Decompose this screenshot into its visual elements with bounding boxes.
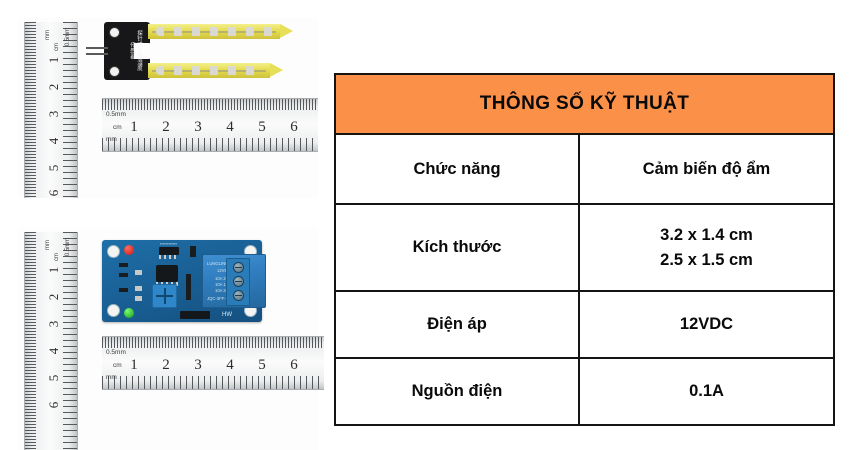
capacitor-component bbox=[135, 270, 142, 275]
resistor-component bbox=[119, 263, 128, 267]
ruler-number: 2 bbox=[158, 357, 174, 374]
pcb-mount-hole bbox=[107, 304, 120, 317]
pcb-board-mark: HW bbox=[222, 312, 232, 318]
capacitor-component bbox=[135, 286, 142, 291]
probe-mount-hole bbox=[109, 66, 120, 77]
trim-potentiometer bbox=[152, 284, 177, 308]
ruler-number: 6 bbox=[286, 119, 302, 136]
dimension-line-2: 2.5 x 1.5 cm bbox=[581, 248, 832, 273]
ruler-unit-cm: cm bbox=[113, 362, 122, 369]
ic-chip-small bbox=[159, 247, 179, 255]
ruler-unit-half-mm: 0.5mm bbox=[65, 234, 71, 260]
spec-value-function: Cảm biến độ ẩm bbox=[579, 134, 834, 204]
prong-contact-pads bbox=[156, 27, 274, 36]
ruler-number: 2 bbox=[46, 288, 62, 306]
ruler-tick-column-fine bbox=[25, 22, 36, 198]
probe-mount-hole bbox=[109, 27, 120, 38]
table-header-row: THÔNG SỐ KỸ THUẬT bbox=[335, 74, 834, 134]
ruler-unit-cm: cm bbox=[113, 124, 122, 131]
pin-header bbox=[180, 311, 210, 319]
spec-label-voltage: Điện áp bbox=[335, 291, 579, 358]
ruler-tick-row-mid bbox=[102, 376, 324, 389]
ruler-number: 3 bbox=[190, 357, 206, 374]
power-led-red bbox=[124, 245, 134, 255]
transistor-component bbox=[186, 274, 191, 300]
table-row: Kích thước 3.2 x 1.4 cm 2.5 x 1.5 cm bbox=[335, 204, 834, 291]
ruler-number: 3 bbox=[190, 119, 206, 136]
status-led-green bbox=[124, 308, 134, 318]
spec-label-current: Nguồn điện bbox=[335, 358, 579, 425]
ruler-number: 6 bbox=[46, 396, 62, 414]
ruler-number: 5 bbox=[46, 369, 62, 387]
table-title-cell: THÔNG SỐ KỸ THUẬT bbox=[335, 74, 834, 134]
ruler-number: 4 bbox=[222, 119, 238, 136]
ruler-tick-row-fine bbox=[102, 337, 324, 348]
probe-prong-lower bbox=[148, 63, 270, 78]
resistor-component bbox=[119, 273, 128, 277]
dimension-line-1: 3.2 x 1.4 cm bbox=[581, 223, 832, 248]
table-row: Chức năng Cảm biến độ ẩm bbox=[335, 134, 834, 204]
terminal-screw bbox=[233, 276, 244, 287]
spec-value-current: 0.1A bbox=[579, 358, 834, 425]
ruler-unit-half-mm: 0.5mm bbox=[106, 349, 126, 356]
ruler-number: 4 bbox=[222, 357, 238, 374]
spec-value-voltage: 12VDC bbox=[579, 291, 834, 358]
probe-lead-wire bbox=[86, 53, 108, 55]
screenshot-canvas: mm 0.5mm cm 1 2 3 4 5 6 探针式土壤湿度传感器 bbox=[0, 0, 850, 450]
ruler-tick-row-fine bbox=[102, 99, 318, 110]
probe-prong-upper bbox=[148, 24, 280, 39]
diode-component bbox=[190, 246, 196, 257]
ruler-number: 2 bbox=[46, 78, 62, 96]
vertical-ruler-top: mm 0.5mm cm 1 2 3 4 5 6 bbox=[24, 22, 78, 198]
ruler-unit-mm: mm bbox=[45, 232, 51, 258]
probe-silkscreen-text: 探针式土壤湿度传感器 bbox=[128, 28, 142, 74]
prong-contact-pads bbox=[156, 66, 264, 75]
ruler-number: 4 bbox=[46, 342, 62, 360]
screw-terminal-block bbox=[226, 258, 250, 306]
ic-chip-opto bbox=[156, 265, 178, 282]
pcb-silkscreen-header: ▪▪▪▪▪▪▪▪▪▪▪▪ bbox=[160, 241, 177, 246]
ruler-number: 1 bbox=[46, 261, 62, 279]
ruler-number: 3 bbox=[46, 105, 62, 123]
ruler-tick-column-mid bbox=[63, 232, 77, 450]
ruler-unit-mm: mm bbox=[45, 22, 51, 48]
soil-moisture-probe: 探针式土壤湿度传感器 bbox=[104, 22, 304, 84]
ruler-tick-column-fine bbox=[25, 232, 36, 450]
capacitor-component bbox=[135, 296, 142, 301]
ruler-unit-mm: mm bbox=[106, 136, 117, 143]
pcb-mount-hole bbox=[107, 245, 120, 258]
ruler-number: 6 bbox=[286, 357, 302, 374]
ruler-number: 1 bbox=[126, 357, 142, 374]
specifications-table: THÔNG SỐ KỸ THUẬT Chức năng Cảm biến độ … bbox=[334, 73, 835, 426]
ic-pin-row bbox=[159, 255, 179, 259]
terminal-screw bbox=[233, 290, 244, 301]
ruler-number: 5 bbox=[46, 159, 62, 177]
ruler-number: 5 bbox=[254, 119, 270, 136]
spec-label-dimensions: Kích thước bbox=[335, 204, 579, 291]
ruler-tick-row-mid bbox=[102, 138, 318, 151]
probe-connector bbox=[120, 44, 126, 57]
vertical-ruler-bottom: mm 0.5mm cm 1 2 3 4 5 6 bbox=[24, 232, 78, 450]
horizontal-ruler-bottom: 0.5mm cm mm 1 2 3 4 5 6 bbox=[102, 336, 324, 390]
ruler-number: 1 bbox=[46, 51, 62, 69]
relay-module-photo: mm 0.5mm cm 1 2 3 4 5 6 bbox=[18, 228, 318, 450]
table-row: Nguồn điện 0.1A bbox=[335, 358, 834, 425]
ruler-number: 3 bbox=[46, 315, 62, 333]
spec-label-function: Chức năng bbox=[335, 134, 579, 204]
spec-value-dimensions: 3.2 x 1.4 cm 2.5 x 1.5 cm bbox=[579, 204, 834, 291]
ruler-unit-mm: mm bbox=[106, 374, 117, 381]
probe-lead-wire bbox=[86, 47, 108, 49]
ruler-number: 2 bbox=[158, 119, 174, 136]
ruler-number: 6 bbox=[46, 184, 62, 202]
horizontal-ruler-top: 0.5mm cm mm 1 2 3 4 5 6 bbox=[102, 98, 318, 152]
ruler-unit-half-mm: 0.5mm bbox=[65, 24, 71, 50]
relay-pcb-board: LUNGLING 12VDC 10A 250VAC 10A 125VAC 10A… bbox=[102, 240, 262, 322]
ruler-number: 4 bbox=[46, 132, 62, 150]
table-row: Điện áp 12VDC bbox=[335, 291, 834, 358]
ruler-number: 5 bbox=[254, 357, 270, 374]
terminal-screw bbox=[233, 262, 244, 273]
sensor-probe-photo: mm 0.5mm cm 1 2 3 4 5 6 探针式土壤湿度传感器 bbox=[18, 18, 318, 198]
ruler-unit-half-mm: 0.5mm bbox=[106, 111, 126, 118]
ruler-number: 1 bbox=[126, 119, 142, 136]
resistor-component bbox=[119, 288, 128, 292]
